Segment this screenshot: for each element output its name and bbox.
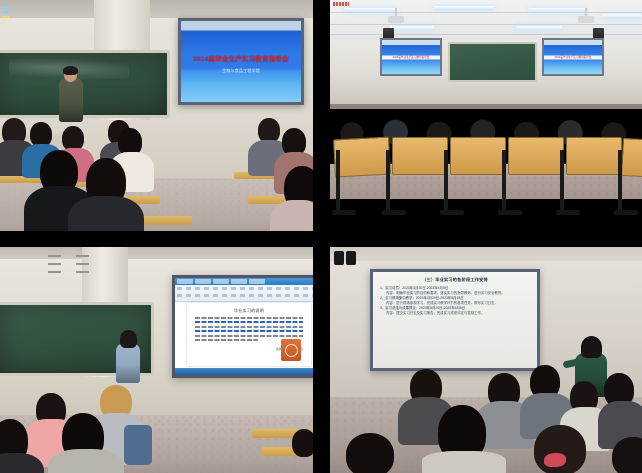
document-text-line	[195, 339, 258, 341]
ceiling-lamp	[390, 26, 434, 30]
document-text-line	[195, 317, 303, 319]
document-seal	[281, 339, 301, 361]
chair-leg	[444, 150, 448, 214]
instructor-hair	[63, 66, 78, 75]
photo-collage: 16:05 2024届毕业生产实习教育指导会 生物与食品工程学院	[0, 0, 642, 473]
projection-screen-right: 2024届毕业生产实习教育指导会	[542, 38, 604, 76]
photo-panel-top-left: 16:05 2024届毕业生产实习教育指导会 生物与食品工程学院	[0, 0, 313, 231]
chair-leg	[560, 150, 564, 214]
photo-panel-bottom-left: 16:55	[0, 247, 313, 473]
cabinet-handle	[76, 255, 89, 257]
document-text-line	[195, 321, 303, 323]
auditorium-chair	[508, 137, 564, 175]
chalkboard	[0, 50, 170, 118]
chair-foot-bar	[332, 210, 356, 215]
screen-right-title: 2024届毕业生产实习教育指导会	[544, 55, 602, 59]
slide-title: （三）毕业实习的各阶段工作安排	[380, 277, 530, 283]
chair-foot-bar	[382, 210, 406, 215]
student-head-foreground	[346, 433, 394, 473]
cabinet-handle	[76, 263, 89, 265]
student-jacket-logo	[544, 453, 566, 467]
projection-screen-left: 2024届毕业生产实习教育指导会	[380, 38, 442, 76]
ceiling-projector	[388, 16, 404, 23]
window-tab	[177, 279, 193, 284]
student-head	[292, 429, 313, 457]
word-window-titlebar	[175, 278, 313, 285]
presenter-body	[116, 343, 140, 383]
ceiling-projector	[578, 16, 594, 23]
window-tab	[231, 279, 247, 284]
cabinet-handle	[48, 271, 61, 273]
presenter-hair	[581, 336, 602, 358]
auditorium-chair	[392, 137, 448, 175]
ceiling	[0, 0, 313, 20]
chair-foot-bar	[614, 210, 638, 215]
document-text-line	[195, 335, 303, 337]
ceiling-lamp	[602, 14, 642, 18]
ribbon-tab-row	[177, 287, 313, 290]
student-body-foreground	[48, 449, 124, 473]
document-text-line	[195, 326, 303, 328]
cabinet-handle	[76, 271, 89, 273]
chair-foot-bar	[440, 210, 464, 215]
projection-screen: 毕业实习的说明 生物与食品工程学院	[172, 275, 313, 378]
document-title: 毕业实习的说明	[195, 308, 303, 314]
projection-screen: 2024届毕业生产实习教育指导会 生物与食品工程学院	[178, 18, 304, 105]
chair-leg	[336, 150, 340, 214]
projection-screen: （三）毕业实习的各阶段工作安排 1、实习动员：2023年3月20日-2023年4…	[370, 269, 540, 371]
ceiling-grid-line	[330, 12, 642, 13]
auditorium-chair	[333, 137, 391, 178]
document-text-line	[195, 330, 303, 332]
photo-panel-top-right: 2024届毕业生产实习教育指导会 2024届毕业生产实习教育指导会	[330, 0, 642, 231]
student-head-foreground	[612, 437, 642, 473]
chair-leg	[386, 150, 390, 214]
window-tab	[249, 279, 265, 284]
presentation-audience-scene: （三）毕业实习的各阶段工作安排 1、实习动员：2023年3月20日-2023年4…	[330, 247, 642, 473]
windows-taskbar	[175, 368, 313, 375]
chalkboard	[448, 42, 537, 82]
student-body-foreground	[422, 451, 506, 473]
slide-title: 2024届毕业生产实习教育指导会	[181, 53, 301, 63]
student-body-foreground	[270, 200, 313, 231]
screen-left-title: 2024届毕业生产实习教育指导会	[382, 55, 440, 59]
lecture-hall-rear-scene: 2024届毕业生产实习教育指导会 2024届毕业生产实习教育指导会	[330, 0, 642, 231]
slide-bullet: 内容：提交实习日志及实习报告，完成实习成绩评定与答辩工作。	[380, 311, 530, 316]
cabinet-handle	[48, 255, 61, 257]
ceiling-lamp	[516, 26, 562, 30]
presenter-hair	[120, 330, 137, 348]
ribbon-command-row	[177, 294, 313, 297]
ceiling-lamp	[528, 8, 586, 12]
window-tab	[195, 279, 211, 284]
chair-leg	[502, 150, 506, 214]
auditorium-chair	[450, 137, 506, 175]
ceiling-grid-line	[330, 24, 642, 25]
auditorium-chair	[566, 137, 622, 175]
chair-foot-bar	[498, 210, 522, 215]
student-backpack	[124, 425, 152, 465]
word-ribbon	[175, 285, 313, 302]
classroom-front-scene: 16:05 2024届毕业生产实习教育指导会 生物与食品工程学院	[0, 0, 313, 231]
ceiling-lamp	[344, 8, 398, 12]
ceiling-lamp	[434, 6, 494, 10]
slide-subtitle: 生物与食品工程学院	[181, 68, 301, 74]
student-body-foreground	[68, 196, 144, 231]
photo-panel-bottom-right: （三）毕业实习的各阶段工作安排 1、实习动员：2023年3月20日-2023年4…	[330, 247, 642, 473]
instructor-body	[59, 78, 83, 122]
cabinet-handle	[48, 263, 61, 265]
chair-leg	[618, 150, 622, 214]
auditorium-chair	[621, 138, 642, 178]
classroom-presenter-scene: 16:55	[0, 247, 313, 473]
chair-foot-bar	[556, 210, 580, 215]
window-tab	[213, 279, 229, 284]
